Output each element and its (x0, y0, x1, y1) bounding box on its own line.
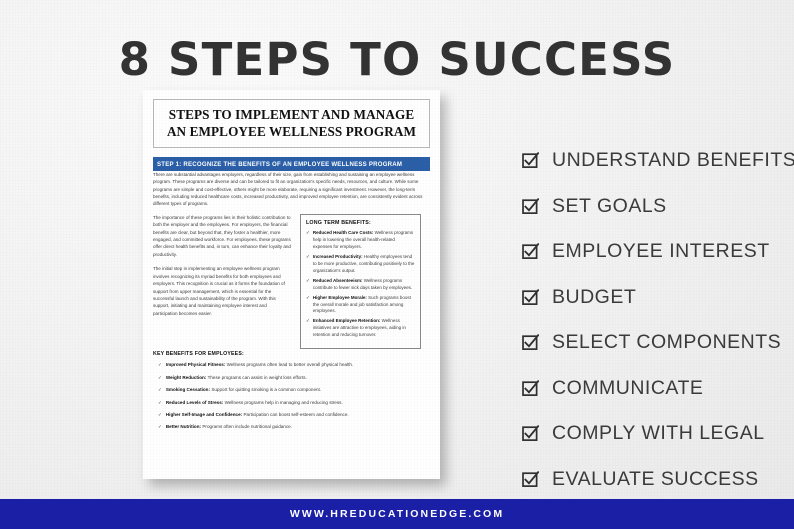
list-item: ✓ Better Nutrition: Programs often inclu… (153, 424, 430, 431)
list-item: ✓ Reduced Levels of Stress: Wellness pro… (153, 400, 430, 407)
checked-checkbox-icon[interactable] (522, 380, 539, 397)
document-title: STEPS TO IMPLEMENT AND MANAGE AN EMPLOYE… (153, 99, 430, 148)
document-paragraph: The initial step in implementing an empl… (153, 265, 291, 317)
document-paragraph: The importance of these programs lies in… (153, 214, 291, 258)
list-item-desc: Wellness programs help in managing and r… (225, 400, 343, 405)
check-mark-icon: ✓ (306, 254, 310, 275)
checklist-item[interactable]: EMPLOYEE INTEREST (522, 229, 794, 275)
checklist-item-label: SET GOALS (552, 195, 667, 218)
list-item: ✓ Increased Productivity: Healthy employ… (306, 254, 415, 275)
poster-background: 8 STEPS TO SUCCESS STEPS TO IMPLEMENT AN… (0, 0, 794, 529)
list-item-term: Smoking Cessation: (166, 387, 210, 392)
list-item-term: Improved Physical Fitness: (166, 362, 225, 367)
list-item-text: Reduced Absenteeism: Wellness programs c… (313, 278, 415, 292)
checklist-item-label: SELECT COMPONENTS (552, 331, 781, 354)
check-mark-icon: ✓ (306, 295, 310, 316)
list-item-term: Weight Reduction: (166, 375, 207, 380)
list-item: ✓ Reduced Health Care Costs: Wellness pr… (306, 230, 415, 251)
long-term-benefits-box: LONG TERM BENEFITS: ✓ Reduced Health Car… (300, 214, 421, 350)
page-title: 8 STEPS TO SUCCESS (0, 33, 794, 86)
list-item-text: Higher Employee Morale: Such programs bo… (313, 295, 415, 316)
check-mark-icon: ✓ (306, 318, 310, 339)
checked-checkbox-icon[interactable] (522, 198, 539, 215)
list-item-text: Improved Physical Fitness: Wellness prog… (166, 362, 353, 369)
checklist-item-label: COMMUNICATE (552, 377, 703, 400)
checklist-item-label: BUDGET (552, 286, 636, 309)
checked-checkbox-icon[interactable] (522, 471, 539, 488)
document-two-column-body: The importance of these programs lies in… (153, 214, 430, 350)
list-item-term: Reduced Health Care Costs: (313, 230, 374, 235)
checklist-item[interactable]: BUDGET (522, 275, 794, 321)
list-item-text: Higher Self-Image and Confidence: Partic… (166, 412, 349, 419)
checked-checkbox-icon[interactable] (522, 152, 539, 169)
list-item-text: Reduced Levels of Stress: Wellness progr… (166, 400, 343, 407)
long-term-benefits-title: LONG TERM BENEFITS: (306, 220, 415, 226)
check-mark-icon: ✓ (158, 400, 162, 407)
footer-website-url[interactable]: WWW.HREDUCATIONEDGE.COM (290, 508, 504, 520)
list-item-term: Better Nutrition: (166, 424, 201, 429)
steps-checklist: UNDERSTAND BENEFITS SET GOALS EMPLOYEE I… (522, 138, 794, 502)
checked-checkbox-icon[interactable] (522, 425, 539, 442)
list-item-text: Increased Productivity: Healthy employee… (313, 254, 415, 275)
list-item-desc: Support for quitting smoking is a common… (211, 387, 321, 392)
document-left-column: The importance of these programs lies in… (153, 214, 291, 350)
list-item-text: Better Nutrition: Programs often include… (166, 424, 292, 431)
document-step-banner: STEP 1: RECOGNIZE THE BENEFITS OF AN EMP… (153, 157, 430, 171)
list-item-desc: These programs can assist in weight loss… (208, 375, 307, 380)
list-item-term: Reduced Absenteeism: (313, 278, 363, 283)
list-item-term: Increased Productivity: (313, 254, 363, 259)
list-item-term: Reduced Levels of Stress: (166, 400, 223, 405)
check-mark-icon: ✓ (158, 424, 162, 431)
checked-checkbox-icon[interactable] (522, 334, 539, 351)
list-item: ✓ Reduced Absenteeism: Wellness programs… (306, 278, 415, 292)
check-mark-icon: ✓ (306, 278, 310, 292)
list-item-text: Enhanced Employee Retention: Wellness in… (313, 318, 415, 339)
check-mark-icon: ✓ (306, 230, 310, 251)
list-item: ✓ Smoking Cessation: Support for quittin… (153, 387, 430, 394)
checklist-item[interactable]: UNDERSTAND BENEFITS (522, 138, 794, 184)
checklist-item-label: EVALUATE SUCCESS (552, 468, 759, 491)
checklist-item-label: COMPLY WITH LEGAL (552, 422, 765, 445)
check-mark-icon: ✓ (158, 362, 162, 369)
list-item-desc: Wellness programs often lead to better o… (227, 362, 354, 367)
checklist-item-label: EMPLOYEE INTEREST (552, 240, 770, 263)
list-item: ✓ Higher Employee Morale: Such programs … (306, 295, 415, 316)
check-mark-icon: ✓ (158, 412, 162, 419)
list-item-text: Weight Reduction: These programs can ass… (166, 375, 307, 382)
list-item: ✓ Weight Reduction: These programs can a… (153, 375, 430, 382)
key-benefits-title: KEY BENEFITS FOR EMPLOYEES: (153, 351, 430, 357)
checklist-item[interactable]: SET GOALS (522, 184, 794, 230)
checklist-item[interactable]: EVALUATE SUCCESS (522, 457, 794, 503)
checked-checkbox-icon[interactable] (522, 243, 539, 260)
checklist-item[interactable]: SELECT COMPONENTS (522, 320, 794, 366)
list-item: ✓ Enhanced Employee Retention: Wellness … (306, 318, 415, 339)
checklist-item[interactable]: COMMUNICATE (522, 366, 794, 412)
list-item-term: Higher Self-Image and Confidence: (166, 412, 242, 417)
checklist-item-label: UNDERSTAND BENEFITS (552, 149, 794, 172)
list-item-desc: Programs often include nutritional guida… (202, 424, 292, 429)
footer-bar: WWW.HREDUCATIONEDGE.COM (0, 499, 794, 529)
list-item-text: Smoking Cessation: Support for quitting … (166, 387, 321, 394)
check-mark-icon: ✓ (158, 387, 162, 394)
document-right-column: LONG TERM BENEFITS: ✓ Reduced Health Car… (300, 214, 421, 350)
list-item-term: Enhanced Employee Retention: (313, 318, 381, 323)
list-item: ✓ Higher Self-Image and Confidence: Part… (153, 412, 430, 419)
list-item: ✓ Improved Physical Fitness: Wellness pr… (153, 362, 430, 369)
list-item-text: Reduced Health Care Costs: Wellness prog… (313, 230, 415, 251)
checked-checkbox-icon[interactable] (522, 289, 539, 306)
document-preview[interactable]: STEPS TO IMPLEMENT AND MANAGE AN EMPLOYE… (143, 90, 440, 479)
check-mark-icon: ✓ (158, 375, 162, 382)
list-item-desc: Participation can boost self-esteem and … (243, 412, 348, 417)
document-intro-paragraph: There are substantial advantages employe… (153, 171, 430, 208)
list-item-term: Higher Employee Morale: (313, 295, 367, 300)
checklist-item[interactable]: COMPLY WITH LEGAL (522, 411, 794, 457)
